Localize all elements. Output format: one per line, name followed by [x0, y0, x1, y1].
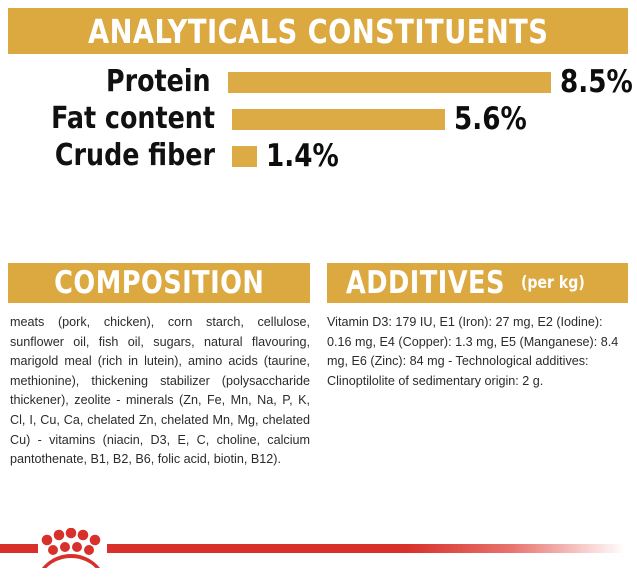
composition-banner: COMPOSITION — [8, 263, 310, 303]
analyticals-banner-title: ANALYTICALS CONSTITUENTS — [88, 15, 548, 48]
chart-bar — [232, 109, 445, 130]
chart-row: Crude fiber 1.4% — [0, 136, 637, 176]
additives-body-text: Vitamin D3: 179 IU, E1 (Iron): 27 mg, E2… — [327, 313, 627, 391]
chart-bar — [228, 72, 551, 93]
chart-row: Protein 8.5% — [0, 62, 637, 102]
analyticals-banner: ANALYTICALS CONSTITUENTS — [8, 8, 628, 54]
analytical-constituents-chart: Protein 8.5% Fat content 5.6% Crude fibe… — [0, 62, 637, 192]
chart-bar-wrap: 8.5% — [228, 67, 637, 98]
chart-bar-value: 5.6% — [454, 104, 527, 135]
footer-rule-left — [0, 544, 38, 553]
chart-bar-wrap: 1.4% — [232, 141, 343, 172]
additives-banner-title: ADDITIVES — [346, 268, 505, 299]
chart-bar-label: Protein — [13, 67, 211, 97]
chart-bar-label: Fat content — [13, 104, 215, 134]
royal-canin-crown-icon — [38, 528, 104, 570]
composition-banner-title: COMPOSITION — [54, 268, 264, 299]
chart-bar-value: 8.5% — [560, 67, 633, 98]
chart-row: Fat content 5.6% — [0, 99, 637, 139]
additives-banner-subtitle: (per kg) — [521, 273, 585, 293]
footer — [0, 500, 637, 581]
footer-rule-right — [107, 544, 625, 553]
composition-body-text: meats (pork, chicken), corn starch, cell… — [10, 313, 310, 470]
additives-banner: ADDITIVES (per kg) — [327, 263, 628, 303]
chart-bar — [232, 146, 257, 167]
chart-bar-wrap: 5.6% — [232, 104, 531, 135]
chart-bar-label: Crude fiber — [13, 141, 215, 171]
chart-bar-value: 1.4% — [266, 141, 339, 172]
